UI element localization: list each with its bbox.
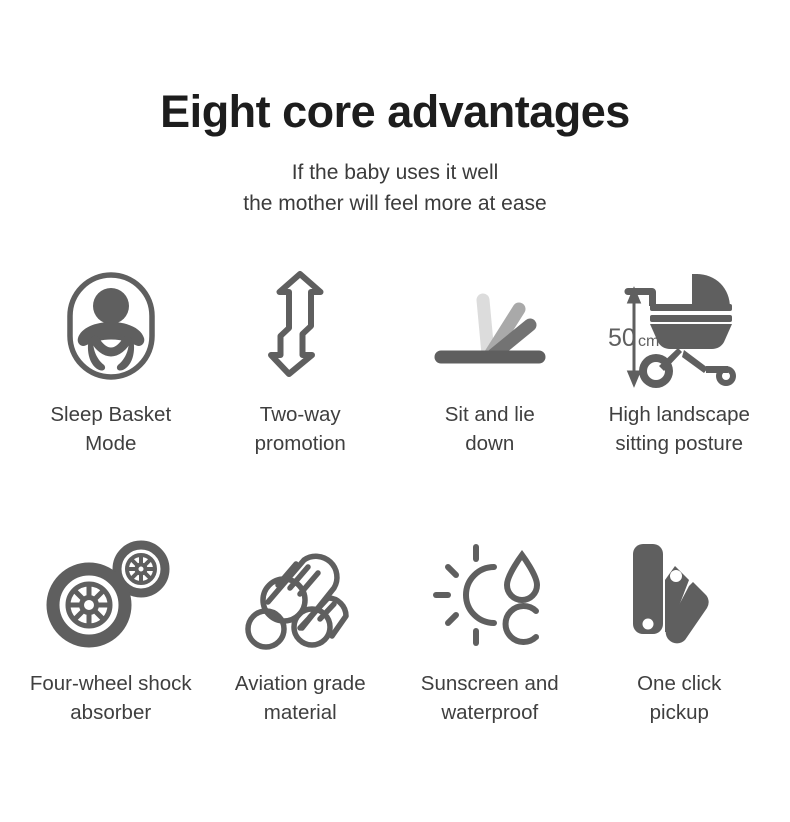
sun-waterdrop-icon [415,534,565,656]
two-wheels-icon [36,534,186,656]
feature-label-line-2: pickup [637,698,721,727]
page-title: Eight core advantages [0,86,790,138]
feature-label: Two-way promotion [255,400,346,458]
feature-label: Sleep Basket Mode [50,400,171,458]
feature-label-line-1: Sleep Basket [50,400,171,429]
stroller-height-icon: 50 cm [604,265,754,387]
feature-item-sleep-basket-mode: Sleep Basket Mode [16,265,206,458]
feature-label: High landscape sitting posture [609,400,750,458]
feature-label: Sunscreen and waterproof [421,669,559,727]
feature-item-one-click-pickup: One click pickup [585,534,775,727]
feature-label: One click pickup [637,669,721,727]
feature-item-high-landscape: 50 cm [585,265,775,458]
feature-label-line-2: promotion [255,429,346,458]
recline-positions-icon [415,265,565,387]
page-subtitle-line-2: the mother will feel more at ease [0,188,790,219]
feature-label-line-1: High landscape [609,400,750,429]
feature-label-line-1: Aviation grade [235,669,366,698]
feature-label: Four-wheel shock absorber [30,669,192,727]
baby-sleep-basket-icon [36,265,186,387]
stacked-tubes-icon [225,534,375,656]
feature-label-line-2: sitting posture [609,429,750,458]
feature-item-sit-and-lie-down: Sit and lie down [395,265,585,458]
feature-label-line-2: waterproof [421,698,559,727]
feature-label-line-1: Sunscreen and [421,669,559,698]
feature-item-aviation-grade-material: Aviation grade material [206,534,396,727]
page-header: Eight core advantages If the baby uses i… [0,0,790,219]
feature-label-line-1: One click [637,669,721,698]
feature-item-sunscreen-waterproof: Sunscreen and waterproof [395,534,585,727]
feature-label-line-1: Sit and lie [445,400,535,429]
folding-frame-icon [604,534,754,656]
feature-item-four-wheel-shock: Four-wheel shock absorber [16,534,206,727]
feature-label: Aviation grade material [235,669,366,727]
feature-label-line-2: material [235,698,366,727]
feature-label: Sit and lie down [445,400,535,458]
feature-label-line-1: Four-wheel shock [30,669,192,698]
page-subtitle: If the baby uses it well the mother will… [0,157,790,219]
feature-label-line-1: Two-way [255,400,346,429]
feature-item-two-way-promotion: Two-way promotion [206,265,396,458]
feature-label-line-2: absorber [30,698,192,727]
features-grid: Sleep Basket Mode Two-way promotion [0,265,790,727]
stroller-measure-value: 50 [608,324,636,352]
advantages-page: Eight core advantages If the baby uses i… [0,0,790,822]
feature-label-line-2: Mode [50,429,171,458]
page-subtitle-line-1: If the baby uses it well [0,157,790,188]
two-way-arrow-icon [225,265,375,387]
feature-label-line-2: down [445,429,535,458]
